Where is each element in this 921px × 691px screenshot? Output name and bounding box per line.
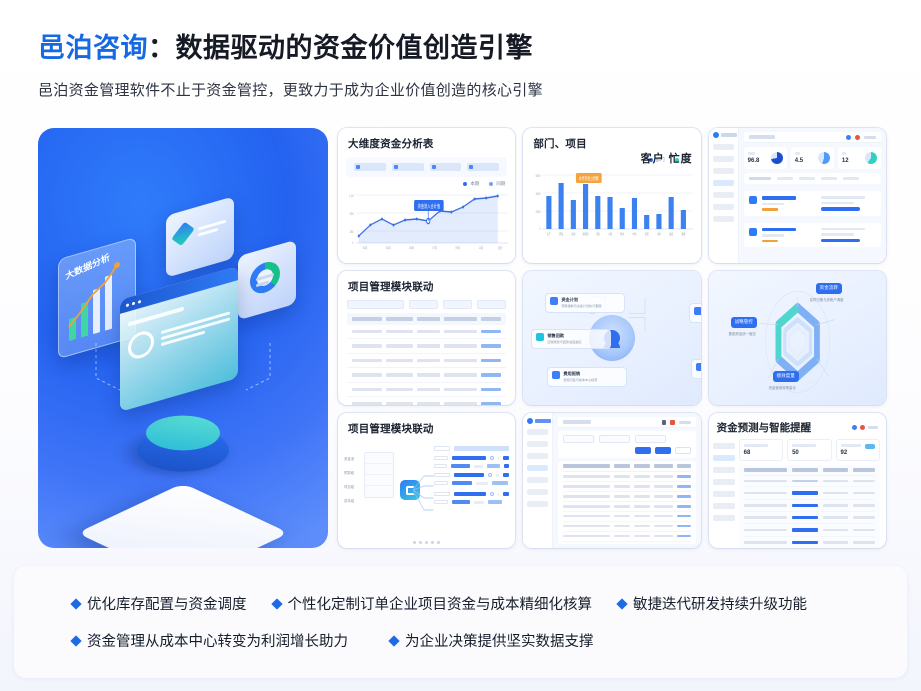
flow-pager-dots[interactable] bbox=[338, 541, 515, 544]
hex-node-performance[interactable]: 绩效度量 bbox=[773, 371, 799, 382]
stat-card-inflow[interactable]: 96.8 bbox=[744, 147, 787, 169]
diamond-bullet-icon bbox=[616, 598, 627, 609]
module-flow-canvas: 资金池 预算组 项目组 成本组 bbox=[338, 440, 515, 544]
col-amount bbox=[444, 317, 476, 321]
benefits-row-2: 资金管理从成本中心转变为利润增长助力 为企业决策提供坚实数据支撑 bbox=[44, 630, 877, 651]
user-avatar-icon[interactable] bbox=[846, 135, 851, 140]
table-row[interactable] bbox=[744, 487, 875, 499]
bar-chart-overlay-label: 客户 忙度 bbox=[641, 150, 693, 166]
content-area: 大数据分析 bbox=[38, 128, 886, 548]
sidebar-item-1[interactable] bbox=[527, 429, 548, 435]
dashboard-sidebar[interactable] bbox=[709, 128, 739, 263]
sidebar-item-1[interactable] bbox=[713, 144, 734, 150]
svg-text:1,00: 1,00 bbox=[349, 193, 354, 198]
user-avatar-icon[interactable] bbox=[852, 425, 857, 430]
hub-node-sales-receipt[interactable]: 销售回款 应收账款与回款进度监控 bbox=[531, 329, 611, 349]
benefit-label: 敏捷迭代研发持续升级功能 bbox=[633, 593, 807, 614]
flow-right-rows bbox=[434, 446, 509, 504]
user-icon[interactable] bbox=[662, 420, 666, 425]
tab-done[interactable] bbox=[821, 177, 837, 180]
list-dashboard-sidebar[interactable] bbox=[523, 413, 553, 548]
header: 邑泊咨询：数据驱动的资金价值创造引擎 邑泊资金管理软件不止于资金管控，更致力于成… bbox=[0, 0, 921, 100]
svg-text:研发: 研发 bbox=[560, 231, 564, 236]
svg-text:05月: 05月 bbox=[409, 245, 414, 250]
benefits-panel: 优化库存配置与资金调度 个性化定制订单企业项目资金与成本精细化核算 敏捷迭代研发… bbox=[14, 566, 907, 678]
sidebar-item-3[interactable] bbox=[713, 467, 735, 473]
dashboard-tabs[interactable] bbox=[744, 173, 881, 184]
bar-chart-tooltip: 本月资金占用额 bbox=[579, 175, 599, 181]
svg-text:销售部: 销售部 bbox=[583, 231, 589, 236]
tab-overdue[interactable] bbox=[843, 177, 859, 180]
col-period bbox=[417, 317, 440, 321]
table-row[interactable] bbox=[347, 383, 506, 398]
card-forecast[interactable]: 资金预测与智能提醒 bbox=[709, 413, 886, 548]
tab-forecast[interactable] bbox=[467, 163, 499, 171]
svg-text:4000: 4000 bbox=[536, 191, 541, 196]
svg-text:采购: 采购 bbox=[572, 231, 576, 236]
card-hex-diagram[interactable]: 资金流转 实时归集与多账户调度 风险预警 风险阈值自动识别与提醒 决策支撑 多维… bbox=[709, 271, 886, 406]
card-hub-diagram[interactable]: 资金计划 预算编制与资金计划执行跟踪 采购订单 供应商订单与付款节点管理 bbox=[523, 271, 700, 406]
table-row[interactable] bbox=[563, 472, 690, 482]
page-title: 邑泊咨询：数据驱动的资金价值创造引擎 bbox=[38, 26, 921, 65]
table-row[interactable] bbox=[744, 512, 875, 524]
benefit-item: 资金管理从成本中心转变为利润增长助力 bbox=[72, 630, 348, 651]
card-project-table[interactable]: 项目管理模块联动 bbox=[338, 271, 515, 406]
table-row[interactable] bbox=[563, 482, 690, 492]
slide-root: 邑泊咨询：数据驱动的资金价值创造引擎 邑泊资金管理软件不止于资金管控，更致力于成… bbox=[0, 0, 921, 691]
diamond-bullet-icon bbox=[70, 635, 81, 646]
tab-running[interactable] bbox=[799, 177, 815, 180]
sidebar-item-7[interactable] bbox=[713, 515, 735, 521]
table-row[interactable] bbox=[744, 500, 875, 512]
project-table-title: 项目管理模块联动 bbox=[338, 271, 515, 294]
notification-icon[interactable] bbox=[855, 135, 860, 140]
hex-node-strategy-desc: 集团资金统一管控 bbox=[729, 331, 756, 336]
card-flow-list-dashboard[interactable] bbox=[523, 413, 700, 548]
table-row[interactable] bbox=[347, 339, 506, 354]
bar-chart-svg: 本月资金占用额 5000 4000 2000 0 生产研发采购 销售部行政人事 … bbox=[527, 167, 694, 239]
sidebar-item-3[interactable] bbox=[527, 453, 548, 459]
tab-detail[interactable] bbox=[392, 163, 424, 171]
svg-text:5000: 5000 bbox=[536, 173, 541, 178]
dashboard-mock: 96.8 4.5 12 bbox=[709, 128, 886, 263]
sidebar-item-4[interactable] bbox=[713, 479, 735, 485]
line-chart-title: 大维度资金分析表 bbox=[338, 128, 515, 151]
list-action-buttons[interactable] bbox=[563, 447, 690, 454]
inventory-icon bbox=[696, 363, 700, 371]
benefit-label: 优化库存配置与资金调度 bbox=[87, 593, 247, 614]
table-row[interactable] bbox=[744, 524, 875, 536]
tab-all[interactable] bbox=[749, 177, 771, 180]
svg-text:运营: 运营 bbox=[645, 231, 649, 236]
sidebar-item-2[interactable] bbox=[713, 156, 734, 162]
svg-text:11月: 11月 bbox=[479, 245, 484, 250]
forecast-sidebar[interactable] bbox=[709, 439, 739, 535]
dashboard-stats: 96.8 4.5 12 bbox=[744, 147, 881, 169]
doc-icon bbox=[749, 196, 757, 204]
list-table-body bbox=[563, 472, 690, 544]
flow-option-list[interactable] bbox=[364, 452, 394, 498]
col-action bbox=[481, 317, 502, 321]
table-row[interactable] bbox=[563, 502, 690, 512]
sidebar-item-3[interactable] bbox=[713, 168, 734, 174]
hub-diagram: 资金计划 预算编制与资金计划执行跟踪 采购订单 供应商订单与付款节点管理 bbox=[523, 271, 700, 406]
filter-owner[interactable] bbox=[443, 300, 472, 309]
line-chart-svg: 资金流入合计值 1,00 500 250 0 01月03月05月 07月09月1… bbox=[342, 189, 509, 251]
hub-node-capital-plan[interactable]: 资金计划 预算编制与资金计划执行跟踪 bbox=[545, 293, 625, 313]
forecast-body: 68 50 92 bbox=[709, 439, 886, 535]
dashboard-breadcrumb bbox=[744, 132, 881, 143]
avatar bbox=[128, 328, 154, 361]
line-chart-plot: 资金流入合计值 1,00 500 250 0 01月03月05月 07月09月1… bbox=[342, 189, 509, 251]
table-row[interactable] bbox=[744, 537, 875, 548]
benefit-item: 为企业决策提供坚实数据支撑 bbox=[390, 630, 594, 651]
svg-text:市场: 市场 bbox=[633, 231, 637, 236]
svg-text:250: 250 bbox=[350, 229, 354, 234]
forecast-table-header bbox=[744, 468, 875, 475]
project-table-body bbox=[338, 325, 515, 406]
doc-icon bbox=[749, 228, 757, 236]
progress-ring-3 bbox=[865, 152, 877, 164]
line-chart-tooltip: 资金流入合计值 bbox=[418, 202, 440, 210]
svg-text:行政: 行政 bbox=[596, 231, 600, 236]
table-row[interactable] bbox=[563, 512, 690, 522]
filter-status[interactable] bbox=[409, 300, 438, 309]
hub-node-purchase-order[interactable]: 采购订单 供应商订单与付款节点管理 bbox=[689, 303, 700, 323]
hex-diagram: 资金流转 实时归集与多账户调度 风险预警 风险阈值自动识别与提醒 决策支撑 多维… bbox=[709, 271, 886, 406]
svg-text:01月: 01月 bbox=[363, 245, 368, 250]
sidebar-item-1[interactable] bbox=[713, 443, 735, 449]
list-dashboard-mock bbox=[523, 413, 700, 548]
list-table bbox=[558, 461, 695, 544]
col-owner bbox=[386, 317, 414, 321]
query-button[interactable] bbox=[635, 447, 651, 454]
trend-badge-icon bbox=[865, 444, 875, 449]
svg-text:0: 0 bbox=[352, 240, 354, 245]
line-chart-tabs[interactable] bbox=[346, 157, 507, 177]
flow-left-labels: 资金池 预算组 项目组 成本组 bbox=[344, 456, 354, 503]
list-filters-panel bbox=[558, 431, 695, 458]
svg-text:品控: 品控 bbox=[670, 231, 674, 236]
benefit-item: 敏捷迭代研发持续升级功能 bbox=[618, 593, 807, 614]
table-row[interactable] bbox=[347, 397, 506, 405]
sidebar-item-5[interactable] bbox=[527, 477, 548, 483]
table-row[interactable] bbox=[563, 542, 690, 544]
hex-diagram-svg bbox=[709, 271, 886, 406]
forecast-stat-inflow[interactable]: 68 bbox=[739, 439, 783, 461]
benefit-item: 优化库存配置与资金调度 bbox=[72, 593, 247, 614]
page-subtitle: 邑泊资金管理软件不止于资金管控，更致力于成为企业价值创造的核心引擎 bbox=[38, 79, 921, 100]
table-row[interactable] bbox=[347, 354, 506, 369]
app-logo-icon bbox=[713, 132, 719, 138]
svg-text:2000: 2000 bbox=[536, 209, 541, 214]
list-table-header bbox=[563, 464, 690, 472]
expense-icon bbox=[552, 371, 560, 379]
diamond-bullet-icon bbox=[70, 598, 81, 609]
hex-node-performance-desc: 资金使用效率量化 bbox=[769, 385, 796, 390]
tab-summary[interactable] bbox=[354, 163, 386, 171]
svg-text:03月: 03月 bbox=[386, 245, 391, 250]
list-dashboard-main bbox=[553, 413, 700, 548]
card-grid: 大维度资金分析表 本期 同期 bbox=[338, 128, 886, 548]
benefit-label: 资金管理从成本中心转变为利润增长助力 bbox=[87, 630, 348, 651]
filter-account-type[interactable] bbox=[563, 435, 594, 443]
sidebar-item-7[interactable] bbox=[713, 216, 734, 222]
table-row[interactable] bbox=[744, 476, 875, 488]
benefit-label: 个性化定制订单企业项目资金与成本精细化核算 bbox=[288, 593, 593, 614]
sidebar-item-2-active[interactable] bbox=[713, 455, 735, 461]
forecast-stat-accuracy[interactable]: 92 bbox=[836, 439, 880, 461]
forecast-stat-alerts[interactable]: 50 bbox=[787, 439, 831, 461]
forecast-table bbox=[739, 465, 880, 548]
forecast-main: 68 50 92 bbox=[739, 439, 886, 535]
hub-node-expense[interactable]: 费用报销 费用归集与成本中心核算 bbox=[547, 367, 627, 387]
forecast-stats: 68 50 92 bbox=[739, 439, 880, 461]
filter-project-name[interactable] bbox=[347, 300, 404, 309]
table-row[interactable] bbox=[563, 522, 690, 532]
card-module-flow[interactable]: 项目管理模块联动 资金池 预算组 项目组 成本组 bbox=[338, 413, 515, 548]
filter-business-type[interactable] bbox=[599, 435, 630, 443]
tab-reconcile[interactable] bbox=[430, 163, 462, 171]
list-filters[interactable] bbox=[563, 435, 690, 443]
diamond-bullet-icon bbox=[271, 598, 282, 609]
sidebar-item-5[interactable] bbox=[713, 491, 735, 497]
benefits-row-1: 优化库存配置与资金调度 个性化定制订单企业项目资金与成本精细化核算 敏捷迭代研发… bbox=[44, 593, 877, 614]
tab-pending[interactable] bbox=[777, 177, 793, 180]
benefit-label: 为企业决策提供坚实数据支撑 bbox=[405, 630, 594, 651]
sidebar-item-7[interactable] bbox=[527, 501, 548, 507]
list-item[interactable] bbox=[744, 191, 881, 216]
project-table-header bbox=[347, 313, 506, 325]
hex-node-flow[interactable]: 资金流转 bbox=[816, 283, 842, 294]
plan-icon bbox=[550, 297, 558, 305]
svg-text:法务: 法务 bbox=[657, 231, 661, 236]
filter-date-range[interactable] bbox=[635, 435, 666, 443]
legend-item-current: 本期 bbox=[463, 181, 479, 187]
notification-icon[interactable] bbox=[670, 420, 675, 425]
progress-ring-1 bbox=[771, 152, 783, 164]
card-bar-chart[interactable]: 部门、项目 部门 客户 客户 忙度 bbox=[523, 128, 700, 263]
receipt-icon bbox=[536, 333, 544, 341]
stat-card-turnover[interactable]: 4.5 bbox=[791, 147, 834, 169]
svg-text:09月: 09月 bbox=[456, 245, 461, 250]
benefit-item: 个性化定制订单企业项目资金与成本精细化核算 bbox=[273, 593, 593, 614]
list-item[interactable] bbox=[744, 223, 881, 248]
svg-text:人事: 人事 bbox=[608, 231, 612, 236]
hero-illustration: 大数据分析 bbox=[38, 128, 328, 548]
bar-chart-plot: 本月资金占用额 5000 4000 2000 0 生产研发采购 销售部行政人事 … bbox=[527, 167, 694, 239]
sidebar-item-2[interactable] bbox=[527, 441, 548, 447]
cube-icon bbox=[171, 222, 195, 246]
forecast-table-body bbox=[744, 476, 875, 548]
legend-item-previous: 同期 bbox=[489, 181, 505, 187]
hex-node-strategy[interactable]: 战略管控 bbox=[731, 317, 757, 328]
diamond-bullet-icon bbox=[388, 635, 399, 646]
card-dashboard-overview[interactable]: 96.8 4.5 12 bbox=[709, 128, 886, 263]
line-chart-legend: 本期 同期 bbox=[338, 177, 515, 187]
svg-text:合计: 合计 bbox=[498, 245, 502, 250]
svg-text:0: 0 bbox=[540, 226, 542, 231]
order-icon bbox=[694, 307, 700, 315]
title-rest: ：数据驱动的资金价值创造引擎 bbox=[148, 33, 533, 63]
table-row[interactable] bbox=[563, 532, 690, 542]
svg-text:500: 500 bbox=[350, 211, 354, 216]
module-flow-title: 项目管理模块联动 bbox=[338, 413, 515, 436]
col-project bbox=[352, 317, 382, 321]
svg-text:客服: 客服 bbox=[682, 231, 686, 236]
card-line-chart[interactable]: 大维度资金分析表 本期 同期 bbox=[338, 128, 515, 263]
export-button[interactable] bbox=[655, 447, 671, 454]
app-logo-icon bbox=[527, 418, 533, 424]
sidebar-item-4-active[interactable] bbox=[713, 180, 734, 186]
sidebar-item-6[interactable] bbox=[713, 204, 734, 210]
hub-node-inventory[interactable]: 库存管理 库存周转与资金占用分析 bbox=[691, 359, 700, 379]
sidebar-item-5[interactable] bbox=[713, 192, 734, 198]
sidebar-item-6[interactable] bbox=[713, 503, 735, 509]
table-row[interactable] bbox=[347, 325, 506, 340]
forecast-title: 资金预测与智能提醒 bbox=[717, 420, 812, 435]
progress-ring-2 bbox=[818, 152, 830, 164]
bar-chart-title: 部门、项目 bbox=[523, 128, 700, 151]
notification-icon[interactable] bbox=[860, 425, 865, 430]
list-dashboard-breadcrumb bbox=[558, 417, 695, 428]
svg-text:生产: 生产 bbox=[547, 231, 551, 236]
table-row[interactable] bbox=[347, 368, 506, 383]
filter-department[interactable] bbox=[477, 300, 506, 309]
table-row[interactable] bbox=[563, 492, 690, 502]
stat-card-alerts[interactable]: 12 bbox=[838, 147, 881, 169]
sidebar-item-6[interactable] bbox=[527, 489, 548, 495]
dashboard-main: 96.8 4.5 12 bbox=[739, 128, 886, 263]
svg-text:财务: 财务 bbox=[621, 231, 625, 236]
svg-text:07月: 07月 bbox=[432, 245, 437, 250]
sidebar-item-4-active[interactable] bbox=[527, 465, 548, 471]
hex-node-flow-desc: 实时归集与多账户调度 bbox=[810, 297, 844, 302]
reset-button[interactable] bbox=[675, 447, 691, 454]
brand-name: 邑泊咨询 bbox=[38, 33, 148, 63]
forecast-header: 资金预测与智能提醒 bbox=[709, 413, 886, 435]
project-table-filters[interactable] bbox=[338, 294, 515, 313]
